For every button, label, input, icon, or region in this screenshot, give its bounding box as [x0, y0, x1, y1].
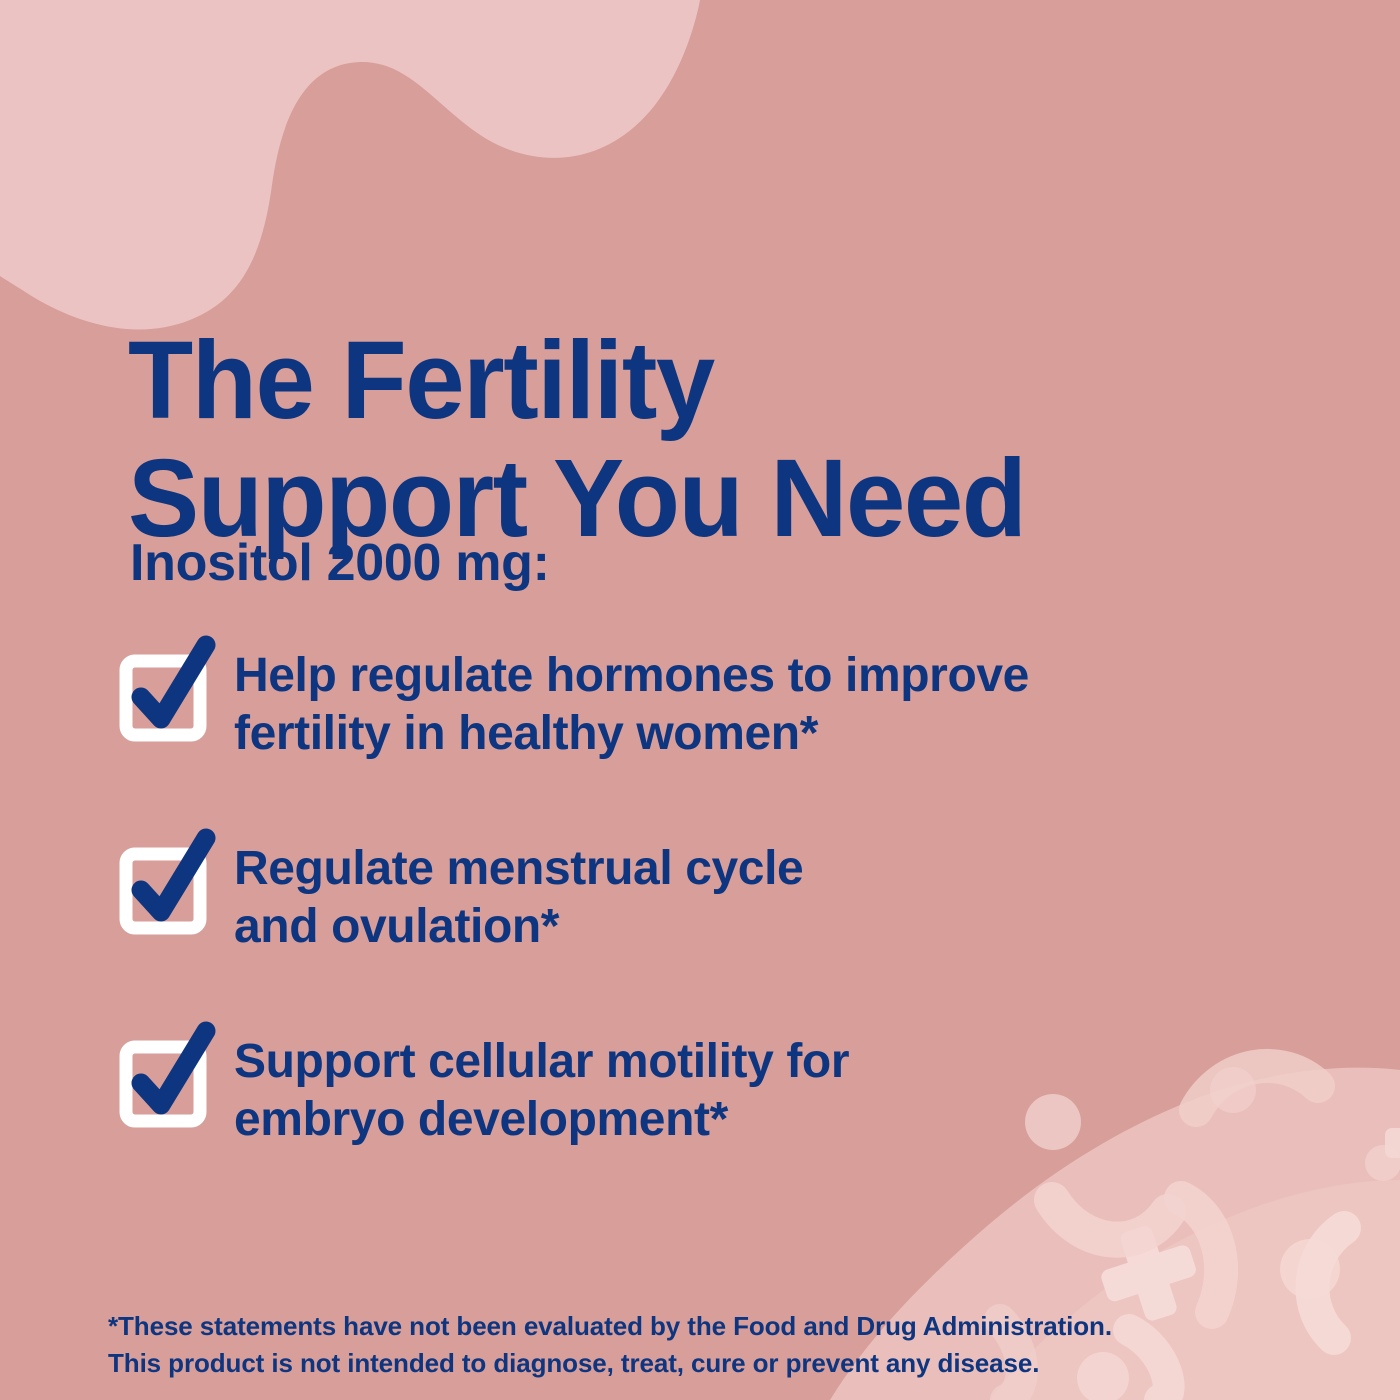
fertility-supplement-poster: The Fertility Support You Need Inositol …: [0, 0, 1400, 1400]
checkbox-checked-icon: [118, 1039, 196, 1123]
list-item-label: Support cellular motility for embryo dev…: [234, 1031, 849, 1149]
list-item: Support cellular motility for embryo dev…: [118, 1031, 1268, 1149]
list-item-label: Regulate menstrual cycle and ovulation*: [234, 838, 803, 956]
page-title: The Fertility Support You Need: [128, 322, 1278, 558]
list-item: Regulate menstrual cycle and ovulation*: [118, 838, 1268, 956]
poster-content: The Fertility Support You Need Inositol …: [0, 0, 1400, 1400]
list-item: Help regulate hormones to improve fertil…: [118, 645, 1268, 763]
checkbox-checked-icon: [118, 653, 196, 737]
headline-line-1: The Fertility: [128, 322, 1244, 440]
list-item-label: Help regulate hormones to improve fertil…: [234, 645, 1029, 763]
ingredient-subheading: Inositol 2000 mg:: [130, 533, 550, 593]
benefits-list: Help regulate hormones to improve fertil…: [118, 645, 1268, 1149]
fda-disclaimer: *These statements have not been evaluate…: [108, 1308, 1338, 1382]
checkbox-checked-icon: [118, 846, 196, 930]
